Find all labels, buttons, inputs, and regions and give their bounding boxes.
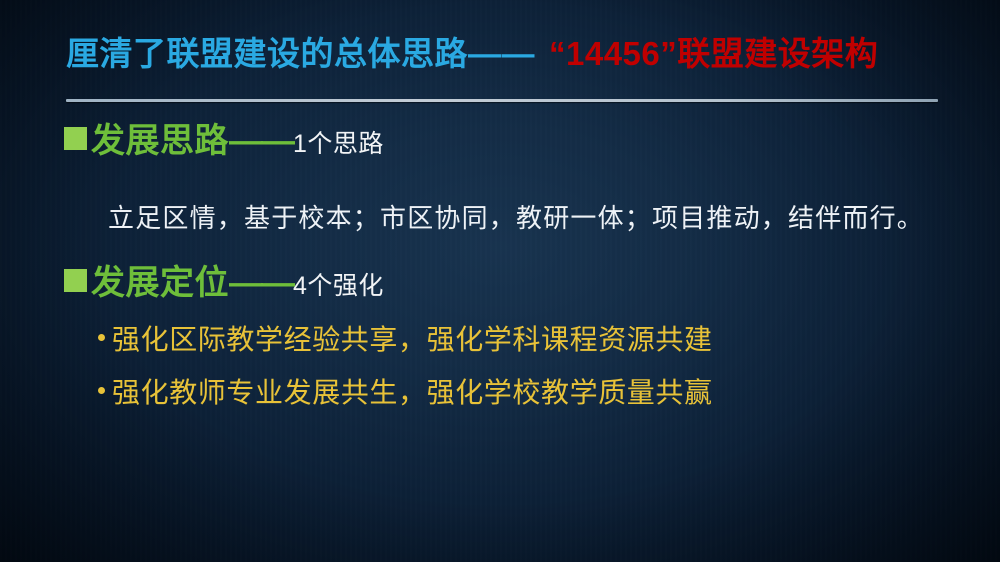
list-item: 强化区际教学经验共享，强化学科课程资源共建 [98, 327, 713, 355]
square-bullet-icon [64, 269, 87, 292]
sub-item-label: 强化区际教学经验共享，强化学科课程资源共建 [112, 325, 713, 356]
presentation-slide: 厘清了联盟建设的总体思路——“14456”联盟建设架构 发展思路——1个思路 立… [0, 0, 1000, 562]
sub-item-label: 强化教师专业发展共生，强化学校教学质量共赢 [112, 378, 713, 409]
section-1-heading-dash: —— [229, 122, 293, 160]
slide-title-main: 厘清了联盟建设的总体思路—— [66, 35, 535, 72]
list-item: 强化教师专业发展共生，强化学校教学质量共赢 [98, 380, 713, 408]
slide-title: 厘清了联盟建设的总体思路——“14456”联盟建设架构 [66, 36, 956, 73]
section-2-heading-white: 4个强化 [293, 272, 384, 300]
section-heading-2: 发展定位——4个强化 [64, 266, 384, 300]
dot-bullet-icon [98, 387, 105, 394]
section-2-heading-green: 发展定位 [91, 264, 229, 302]
square-bullet-icon [64, 127, 87, 150]
section-2-heading-dash: —— [229, 264, 293, 302]
section-1-heading-green: 发展思路 [91, 122, 229, 160]
section-1-body-text: 立足区情，基于校本；市区协同，教研一体；项目推动，结伴而行。 [108, 198, 924, 235]
section-heading-1: 发展思路——1个思路 [64, 124, 384, 158]
slide-title-accent: “14456”联盟建设架构 [549, 35, 878, 72]
title-divider [66, 99, 938, 102]
dot-bullet-icon [98, 334, 105, 341]
section-1-heading-white: 1个思路 [293, 130, 384, 158]
section-2-sub-list: 强化区际教学经验共享，强化学科课程资源共建 强化教师专业发展共生，强化学校教学质… [98, 327, 713, 433]
